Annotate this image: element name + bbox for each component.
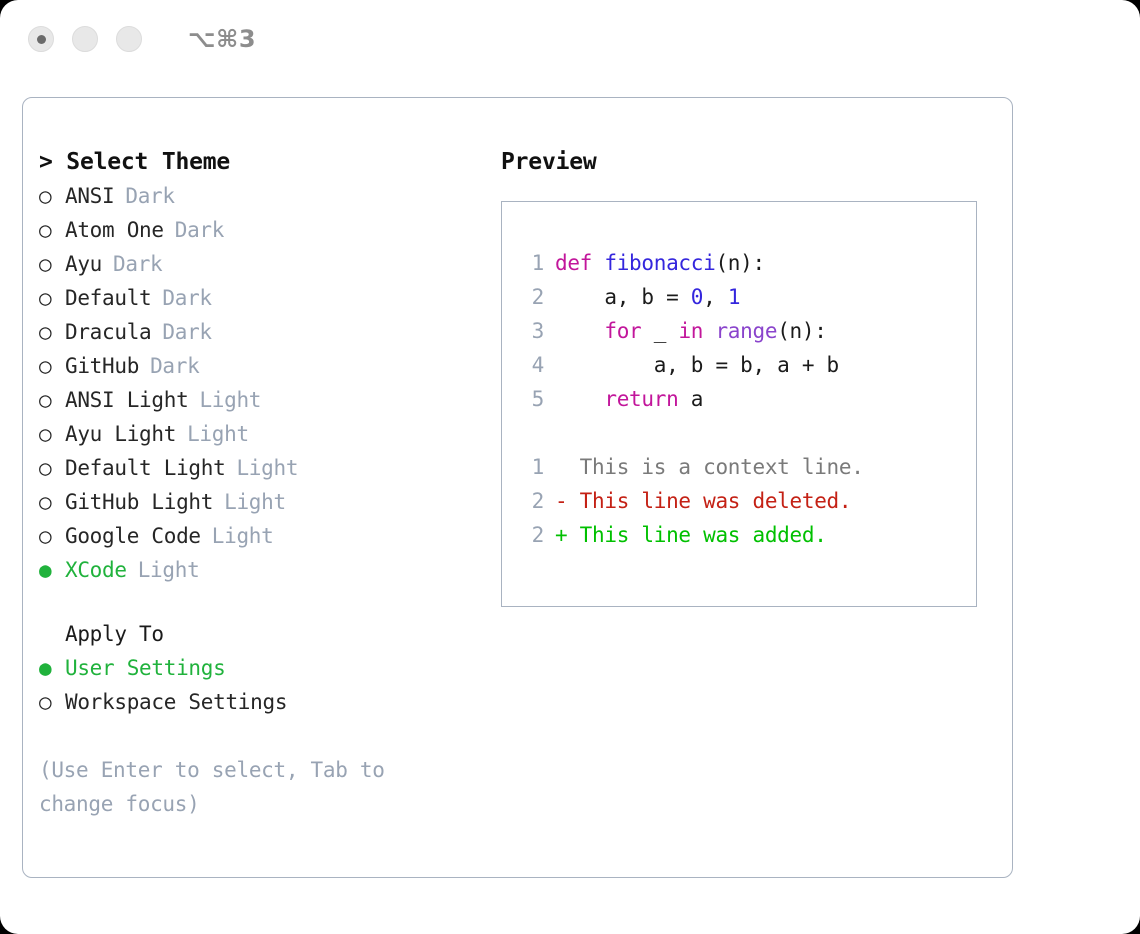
code-preview-content: 1def fibonacci(n):2 a, b = 0, 13 for _ i… (514, 246, 970, 552)
code-preview-box: 1def fibonacci(n):2 a, b = 0, 13 for _ i… (501, 201, 977, 607)
radio-unselected-icon: ○ (39, 247, 65, 281)
apply-to-option-label: Workspace Settings (65, 685, 287, 719)
preview-column: Preview 1def fibonacci(n):2 a, b = 0, 13… (501, 145, 996, 607)
theme-option-default-light[interactable]: ○Default LightLight (39, 451, 499, 485)
theme-option-label: Ayu (65, 247, 102, 281)
line-number: 2 (514, 484, 544, 518)
code-line: 4 a, b = b, a + b (514, 348, 970, 382)
theme-option-default[interactable]: ○DefaultDark (39, 281, 499, 315)
theme-option-atom-one[interactable]: ○Atom OneDark (39, 213, 499, 247)
token-num: 0 (691, 285, 703, 309)
code-line-text: for _ in range(n): (555, 314, 827, 348)
line-number: 4 (514, 348, 544, 382)
radio-unselected-icon: ○ (39, 485, 65, 519)
line-number: 3 (514, 314, 544, 348)
window-dot-second-icon[interactable] (72, 26, 98, 52)
code-line: 3 for _ in range(n): (514, 314, 970, 348)
app-window: ⌥⌘3 > Select Theme ○ANSIDark○Atom OneDar… (0, 0, 1140, 934)
theme-option-label: Google Code (65, 519, 201, 553)
token-pl: a, b = b, a + b (555, 353, 839, 377)
theme-option-variant-tag: Light (236, 451, 298, 485)
theme-list: ○ANSIDark○Atom OneDark○AyuDark○DefaultDa… (39, 179, 499, 587)
radio-unselected-icon: ○ (39, 349, 65, 383)
token-kw: in (678, 319, 703, 343)
window-dot-pip-icon (37, 35, 46, 44)
radio-unselected-icon: ○ (39, 281, 65, 315)
theme-option-variant-tag: Dark (113, 247, 162, 281)
token-pl: a (678, 387, 703, 411)
line-number: 2 (514, 280, 544, 314)
radio-selected-icon: ● (39, 651, 65, 685)
theme-option-variant-tag: Dark (162, 281, 211, 315)
code-line-text: a, b = b, a + b (555, 348, 839, 382)
line-number: 5 (514, 382, 544, 416)
diff-line-text: This is a context line. (567, 450, 863, 484)
radio-selected-icon: ● (39, 553, 65, 587)
theme-option-ansi-light[interactable]: ○ANSI LightLight (39, 383, 499, 417)
theme-option-label: ANSI Light (65, 383, 188, 417)
hint-spacer (39, 719, 499, 753)
theme-option-label: GitHub (65, 349, 139, 383)
theme-option-variant-tag: Light (187, 417, 249, 451)
theme-option-label: Default Light (65, 451, 225, 485)
apply-to-option-workspace-settings[interactable]: ○Workspace Settings (39, 685, 499, 719)
theme-selector-panel: > Select Theme ○ANSIDark○Atom OneDark○Ay… (22, 97, 1013, 878)
list-spacer (39, 587, 499, 617)
theme-option-google-code[interactable]: ○Google CodeLight (39, 519, 499, 553)
token-pl: (n): (777, 319, 826, 343)
token-pl: , (703, 285, 728, 309)
theme-option-variant-tag: Light (224, 485, 286, 519)
preview-heading: Preview (501, 145, 996, 179)
theme-option-ayu[interactable]: ○AyuDark (39, 247, 499, 281)
diff-sample: 1 This is a context line.2- This line wa… (514, 450, 970, 552)
token-kw: def (555, 251, 592, 275)
token-num: 1 (728, 285, 740, 309)
theme-option-variant-tag: Dark (175, 213, 224, 247)
radio-unselected-icon: ○ (39, 179, 65, 213)
token-fn: fibonacci (604, 251, 715, 275)
theme-option-variant-tag: Dark (150, 349, 199, 383)
diff-marker-del: - (555, 484, 567, 518)
token-pl (555, 319, 604, 343)
apply-to-option-label: User Settings (65, 651, 225, 685)
code-diff-separator (514, 416, 970, 450)
diff-line-text: This line was added. (567, 518, 826, 552)
theme-option-dracula[interactable]: ○DraculaDark (39, 315, 499, 349)
diff-line-ctx: 1 This is a context line. (514, 450, 970, 484)
token-pl: _ (641, 319, 678, 343)
theme-option-variant-tag: Light (199, 383, 261, 417)
diff-marker-add: + (555, 518, 567, 552)
theme-option-ansi[interactable]: ○ANSIDark (39, 179, 499, 213)
diff-line-add: 2+ This line was added. (514, 518, 970, 552)
code-line: 5 return a (514, 382, 970, 416)
radio-unselected-icon: ○ (39, 315, 65, 349)
token-kw: return (604, 387, 678, 411)
theme-option-github[interactable]: ○GitHubDark (39, 349, 499, 383)
theme-option-xcode[interactable]: ●XCodeLight (39, 553, 499, 587)
title-bar: ⌥⌘3 (0, 0, 1140, 78)
theme-option-label: Default (65, 281, 151, 315)
diff-line-text: This line was deleted. (567, 484, 851, 518)
theme-option-ayu-light[interactable]: ○Ayu LightLight (39, 417, 499, 451)
apply-to-heading: Apply To (39, 617, 499, 651)
theme-option-variant-tag: Dark (162, 315, 211, 349)
token-pl: a, b = (555, 285, 691, 309)
radio-unselected-icon: ○ (39, 685, 65, 719)
window-controls (28, 26, 142, 52)
line-number: 1 (514, 450, 544, 484)
code-line-text: def fibonacci(n): (555, 246, 765, 280)
theme-option-variant-tag: Dark (125, 179, 174, 213)
line-number: 2 (514, 518, 544, 552)
apply-to-option-user-settings[interactable]: ●User Settings (39, 651, 499, 685)
token-pl (555, 387, 604, 411)
theme-option-label: Atom One (65, 213, 164, 247)
panel-columns: > Select Theme ○ANSIDark○Atom OneDark○Ay… (23, 98, 1012, 877)
radio-unselected-icon: ○ (39, 383, 65, 417)
radio-unselected-icon: ○ (39, 213, 65, 247)
code-sample: 1def fibonacci(n):2 a, b = 0, 13 for _ i… (514, 246, 970, 416)
code-line-text: return a (555, 382, 703, 416)
diff-line-del: 2- This line was deleted. (514, 484, 970, 518)
theme-option-label: GitHub Light (65, 485, 213, 519)
code-line-text: a, b = 0, 1 (555, 280, 740, 314)
token-pl: (n): (715, 251, 764, 275)
window-dot-third-icon[interactable] (116, 26, 142, 52)
window-dot-active-icon[interactable] (28, 26, 54, 52)
line-number: 1 (514, 246, 544, 280)
theme-option-label: Dracula (65, 315, 151, 349)
diff-marker-ctx (555, 450, 567, 484)
theme-list-column: > Select Theme ○ANSIDark○Atom OneDark○Ay… (39, 145, 499, 821)
radio-unselected-icon: ○ (39, 519, 65, 553)
theme-option-variant-tag: Light (138, 553, 200, 587)
select-theme-heading: > Select Theme (39, 145, 499, 179)
radio-unselected-icon: ○ (39, 451, 65, 485)
token-bi: range (715, 319, 777, 343)
keyboard-hint-text: (Use Enter to select, Tab to change focu… (39, 753, 439, 821)
radio-unselected-icon: ○ (39, 417, 65, 451)
theme-option-variant-tag: Light (212, 519, 274, 553)
theme-option-label: XCode (65, 553, 127, 587)
code-line: 1def fibonacci(n): (514, 246, 970, 280)
code-line: 2 a, b = 0, 1 (514, 280, 970, 314)
token-pl (703, 319, 715, 343)
token-kw: for (604, 319, 641, 343)
theme-option-label: ANSI (65, 179, 114, 213)
theme-option-label: Ayu Light (65, 417, 176, 451)
keyboard-shortcut-label: ⌥⌘3 (188, 25, 256, 53)
apply-to-list: ●User Settings○Workspace Settings (39, 651, 499, 719)
theme-option-github-light[interactable]: ○GitHub LightLight (39, 485, 499, 519)
token-pl (592, 251, 604, 275)
